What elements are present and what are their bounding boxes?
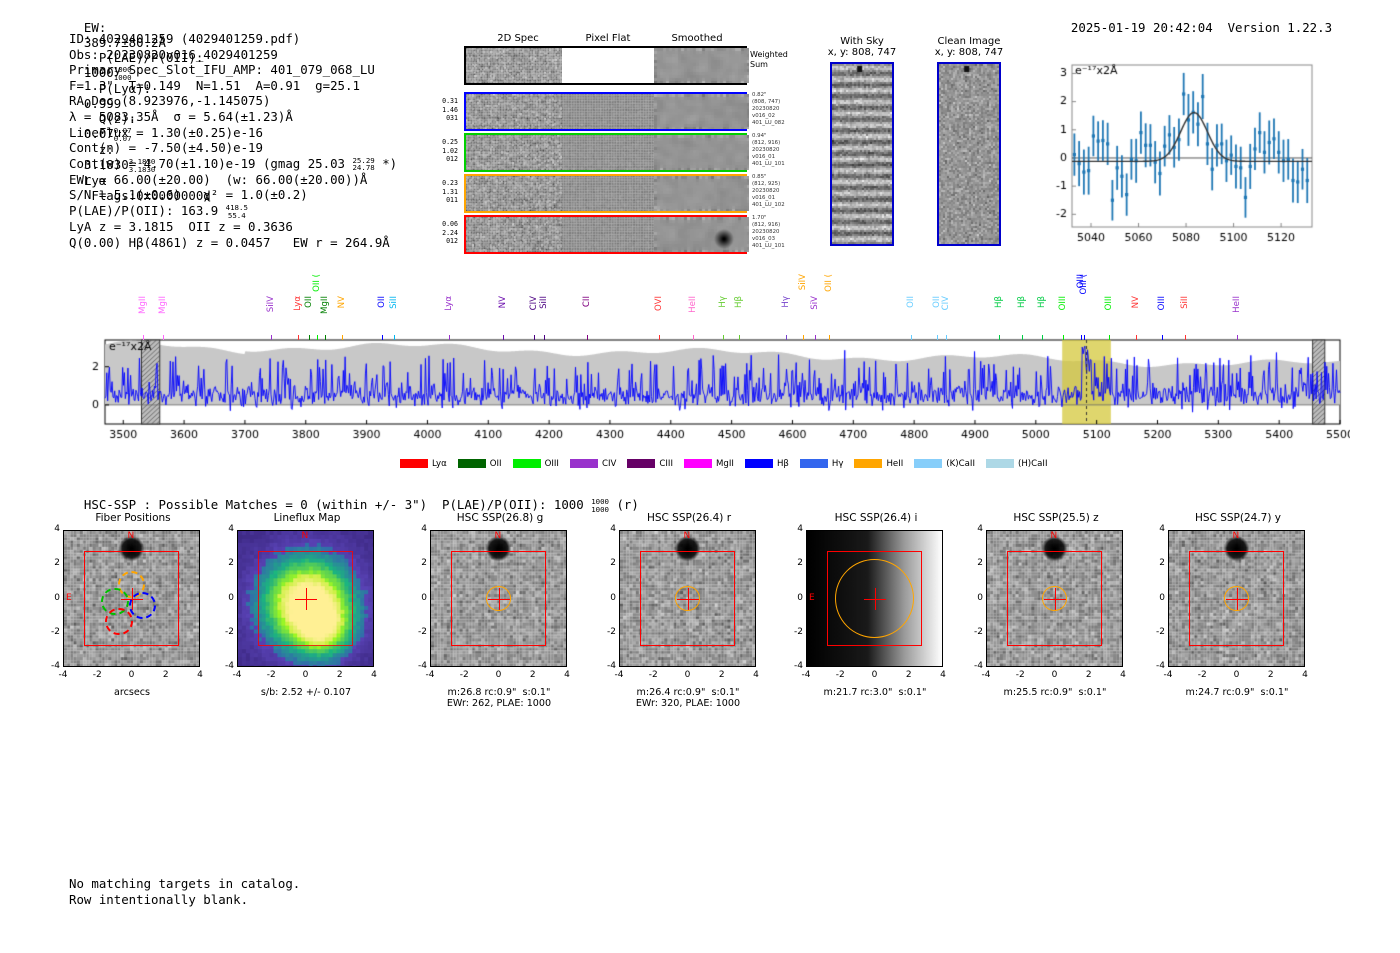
spec2d-fiber-box	[464, 133, 747, 172]
hsc-x-tick: 0	[123, 670, 141, 680]
spectrum-line-tick	[815, 335, 816, 340]
spectrum-line-tick	[1109, 335, 1110, 340]
hsc-x-tick: -4	[54, 670, 72, 680]
legend-item: Hγ	[800, 459, 844, 469]
hsc-crosshair-v	[306, 588, 307, 610]
spec2d-row-right-label: 1.70" (812, 916) 20230820 v016_03 401_LU…	[752, 215, 812, 250]
hsc-header-post: (r)	[609, 497, 639, 512]
spectrum-line-label: Hγ	[781, 296, 791, 308]
hsc-y-tick: 4	[43, 524, 60, 534]
spec2d-fiber-box	[464, 92, 747, 131]
header-timestamp-block: 2025-01-19 20:42:04 Version 1.22.3	[1056, 5, 1332, 35]
legend-swatch	[570, 459, 598, 468]
hsc-cutout-caption-1: m:26.8 rc:0.9" s:0.1"	[424, 687, 574, 698]
legend-swatch	[914, 459, 942, 468]
spectrum-line-label: Lyα	[293, 296, 303, 311]
spec2d-fiber-rows: 0.31 1.46 0310.82" (808, 747) 20230820 v…	[464, 92, 747, 256]
hsc-x-tick: -2	[88, 670, 106, 680]
cutout-with-sky-title: With Sky	[818, 36, 906, 47]
hsc-x-tick: 4	[191, 670, 209, 680]
legend-swatch	[627, 459, 655, 468]
hsc-cutout-caption-1: m:26.4 rc:0.9" s:0.1"	[613, 687, 763, 698]
spec2d-pixelflat	[562, 217, 654, 252]
compass-north-label: N	[495, 531, 502, 541]
spectrum-line-tick	[1162, 335, 1163, 340]
spectrum-line-tick	[394, 335, 395, 340]
cutout-clean-title: Clean Image	[925, 36, 1013, 47]
hsc-y-tick: 2	[599, 558, 616, 568]
legend-item: (K)CaII	[914, 459, 975, 469]
spec2d-smoothed	[654, 135, 749, 170]
spectrum-line-tick	[143, 335, 144, 340]
hsc-cutout-plot: N-4-4-2-2002244	[1168, 530, 1305, 667]
spec2d-title-pixelflat: Pixel Flat	[563, 33, 653, 44]
spec2d-pixelflat	[562, 135, 654, 170]
hsc-header-pre: HSC-SSP : Possible Matches = 0 (within +…	[84, 497, 591, 512]
spectrum-line-tick	[1084, 335, 1085, 340]
hsc-x-tick: 0	[1046, 670, 1064, 680]
info-plae-range: 418.555.4	[226, 204, 248, 219]
hsc-cutout-plot: E-4-4-2-2002244	[806, 530, 943, 667]
hsc-y-tick: 4	[786, 524, 803, 534]
hsc-x-tick: -2	[455, 670, 473, 680]
legend-item: MgII	[684, 459, 734, 469]
hsc-y-tick: 2	[217, 558, 234, 568]
spectrum-line-label: HeII	[1232, 296, 1242, 313]
hsc-x-tick: 2	[331, 670, 349, 680]
hsc-cutout-title: Lineflux Map	[232, 512, 382, 524]
hsc-cutout-panel: Fiber PositionsNE-4-4-2-2002244arcsecs	[63, 512, 223, 698]
spectrum-line-label: CIV	[941, 296, 951, 310]
hsc-y-tick: -2	[966, 627, 983, 637]
spectrum-line-tick	[503, 335, 504, 340]
spectrum-line-tick	[309, 335, 310, 340]
hsc-cutout-caption-2: EWr: 320, PLAE: 1000	[613, 698, 763, 709]
spec2d-smoothed	[654, 176, 749, 211]
hsc-x-tick: 0	[1228, 670, 1246, 680]
hsc-x-tick: -2	[262, 670, 280, 680]
legend-item: OII	[458, 459, 502, 469]
spectrum-line-label: MgII	[158, 296, 168, 314]
legend-label: Hβ	[777, 459, 789, 469]
spectrum-line-tick	[163, 335, 164, 340]
info-line: λ = 5083.35Å σ = 5.64(±1.23)Å	[69, 109, 397, 125]
spectrum-line-label: Hγ	[718, 296, 728, 308]
legend-swatch	[745, 459, 773, 468]
spectrum-legend: LyαOIIOIIICIVCIIIMgIIHβHγHeII(K)CaII(H)C…	[400, 453, 1020, 472]
legend-label: OII	[490, 459, 502, 469]
hsc-cutout-caption-2: EWr: 262, PLAE: 1000	[424, 698, 574, 709]
info-sn: S/N = 5.1(±0.6) χ² = 1.0(±0.2)	[69, 187, 397, 203]
hsc-header-range: 10001000	[591, 498, 609, 513]
compass-north-label: N	[684, 531, 691, 541]
info-line: LineFlux = 1.30(±0.25)e-16	[69, 125, 397, 141]
hsc-x-tick: 0	[679, 670, 697, 680]
spec2d-fiber-box	[464, 215, 747, 254]
compass-north-label: N	[302, 531, 309, 541]
legend-item: Lyα	[400, 459, 447, 469]
hsc-x-tick: -2	[1193, 670, 1211, 680]
spec2d-raw	[466, 135, 562, 170]
hsc-y-tick: 0	[599, 593, 616, 603]
hsc-x-tick: -4	[797, 670, 815, 680]
spectrum-line-label: OII (	[312, 274, 322, 292]
legend-label: Lyα	[432, 459, 447, 469]
spectrum-line-label: SiIV	[266, 296, 276, 312]
spectrum-line-label: OVI	[654, 296, 664, 311]
spec2d-row-left-label: 0.06 2.24 012	[420, 220, 458, 246]
spectrum-line-tick	[317, 335, 318, 340]
legend-swatch	[400, 459, 428, 468]
hsc-x-tick: -4	[421, 670, 439, 680]
legend-label: CIV	[602, 459, 616, 469]
spectrum-line-label: CIV	[529, 296, 539, 310]
spec2d-row-right-label: 0.94" (812, 916) 20230820 v016_01 401_LU…	[752, 133, 812, 168]
hsc-x-tick: -2	[1011, 670, 1029, 680]
hsc-x-tick: 4	[934, 670, 952, 680]
hsc-y-tick: 4	[966, 524, 983, 534]
spectrum-line-label: OIII	[1058, 296, 1068, 310]
spectrum-line-label: OII	[377, 296, 387, 308]
hsc-cutout-panel: HSC SSP(26.4) rN-4-4-2-2002244m:26.4 rc:…	[619, 512, 779, 709]
hsc-x-tick: 2	[157, 670, 175, 680]
hsc-cutout-panel: Lineflux MapN-4-4-2-2002244s/b: 2.52 +/-…	[237, 512, 397, 698]
info-line: ID: 4029401259 (4029401259.pdf)	[69, 31, 397, 47]
hsc-x-tick: 4	[558, 670, 576, 680]
spec2d-row-left-label: 0.31 1.46 031	[420, 97, 458, 123]
hsc-x-tick: 0	[490, 670, 508, 680]
spec2d-smoothed	[654, 217, 749, 252]
hsc-cutout-plot: N-4-4-2-2002244	[430, 530, 567, 667]
spectrum-line-label: SiII	[539, 296, 549, 309]
compass-east-label: E	[809, 593, 815, 603]
spectrum-line-label: Hβ	[734, 296, 744, 308]
spec2d-fiber-row: 0.25 1.02 0120.94" (812, 916) 20230820 v…	[464, 133, 747, 172]
hsc-y-tick: 0	[966, 593, 983, 603]
hsc-x-tick: 2	[1262, 670, 1280, 680]
spec2d-raw	[466, 217, 562, 252]
spectrum-line-label: CII	[582, 296, 592, 307]
header-version: Version 1.22.3	[1228, 20, 1332, 35]
line-profile-chart	[1040, 55, 1320, 274]
hsc-cutout-panel: HSC SSP(25.5) zN-4-4-2-2002244m:25.5 rc:…	[986, 512, 1146, 698]
spectrum-line-label: SiV	[810, 296, 820, 310]
compass-north-label: N	[1233, 531, 1240, 541]
hsc-cutout-plot: N-4-4-2-2002244	[619, 530, 756, 667]
gmag-range: 25.2924.78	[352, 157, 374, 172]
spectrum-line-tick	[723, 335, 724, 340]
hsc-cutout-title: HSC SSP(25.5) z	[981, 512, 1131, 524]
hsc-cutout-caption-1: s/b: 2.52 +/- 0.107	[231, 687, 381, 698]
spectrum-line-tick	[946, 335, 947, 340]
hsc-cutout-panel: HSC SSP(24.7) yN-4-4-2-2002244m:24.7 rc:…	[1168, 512, 1328, 698]
spectrum-line-label: OII	[304, 296, 314, 308]
spectrum-line-label: OIII (	[1079, 274, 1089, 294]
info-line: Cont(n) = -7.50(±4.50)e-19	[69, 140, 397, 156]
hsc-header: HSC-SSP : Possible Matches = 0 (within +…	[69, 482, 639, 513]
hsc-cutout-title: Fiber Positions	[58, 512, 208, 524]
spec2d-row-right-label: 0.82" (808, 747) 20230820 v016_02 401_LU…	[752, 92, 812, 127]
compass-north-label: N	[1051, 531, 1058, 541]
spectrum-line-tick	[911, 335, 912, 340]
cutout-with-sky-coords: x, y: 808, 747	[818, 47, 906, 58]
spectrum-line-tick	[298, 335, 299, 340]
hsc-cutout-caption-1: m:21.7 rc:3.0" s:0.1"	[800, 687, 950, 698]
legend-label: Hγ	[832, 459, 844, 469]
hsc-x-tick: -2	[644, 670, 662, 680]
hsc-y-tick: -2	[217, 627, 234, 637]
hsc-x-tick: 4	[365, 670, 383, 680]
spectrum-line-label: SiII	[389, 296, 399, 309]
hsc-radius-circle	[486, 586, 511, 611]
legend-label: HeII	[886, 459, 903, 469]
hsc-radius-circle	[835, 559, 914, 638]
compass-east-label: E	[66, 593, 72, 603]
hsc-x-tick: 0	[866, 670, 884, 680]
spectrum-line-tick	[271, 335, 272, 340]
hsc-cutout-title: HSC SSP(26.4) r	[614, 512, 764, 524]
hsc-cutout-caption-1: arcsecs	[57, 687, 207, 698]
spectrum-line-label: SiIV	[798, 274, 808, 290]
hsc-x-tick: 4	[747, 670, 765, 680]
spectrum-line-tick	[1063, 335, 1064, 340]
cutout-clean-coords: x, y: 808, 747	[925, 47, 1013, 58]
hsc-x-tick: 2	[900, 670, 918, 680]
hsc-y-tick: 0	[217, 593, 234, 603]
spectrum-line-tick	[544, 335, 545, 340]
hsc-radius-circle	[1042, 586, 1067, 611]
spectrum-line-tick	[786, 335, 787, 340]
hsc-x-tick: -4	[1159, 670, 1177, 680]
hsc-y-tick: -2	[410, 627, 427, 637]
hsc-x-tick: -2	[831, 670, 849, 680]
info-ewr: EWr = 66.00(±20.00) (w: 66.00(±20.00))Å	[69, 172, 397, 188]
legend-swatch	[513, 459, 541, 468]
spectrum-line-tick	[937, 335, 938, 340]
hsc-cutout-plot: N-4-4-2-2002244	[237, 530, 374, 667]
spectrum-line-labels: MgIIMgIISiIVLyαOIIOII (MgIINVOIISiIILyαN…	[60, 272, 1350, 352]
spectrum-line-label: Hβ	[994, 296, 1004, 308]
spectrum-line-tick	[1022, 335, 1023, 340]
cutout-clean-image	[937, 62, 1001, 246]
hsc-x-tick: -4	[610, 670, 628, 680]
legend-label: MgII	[716, 459, 734, 469]
spec2d-row-right-label: 0.85" (812, 925) 20230820 v016_01 401_LU…	[752, 174, 812, 209]
spectrum-line-tick	[829, 335, 830, 340]
hsc-cutout-plot: N-4-4-2-2002244	[986, 530, 1123, 667]
hsc-cutout-plot: NE-4-4-2-2002244	[63, 530, 200, 667]
info-q-line: Q(0.00) Hβ(4861) z = 0.0457 EW r = 264.9…	[69, 235, 397, 251]
info-plae: P(LAE)/P(OII): 163.9 418.555.4	[69, 203, 397, 219]
compass-north-label: N	[128, 531, 135, 541]
info-line: Obs: 20230820v016_4029401259	[69, 47, 397, 63]
footer-block: No matching targets in catalog. Row inte…	[69, 876, 300, 907]
hsc-y-tick: 4	[599, 524, 616, 534]
full-spectrum-chart: MgIIMgIISiIVLyαOIIOII (MgIINVOIISiIILyαN…	[60, 272, 1350, 456]
hsc-y-tick: 2	[786, 558, 803, 568]
spec2d-row-left-label: 0.25 1.02 012	[420, 138, 458, 164]
spectrum-line-label: NV	[498, 296, 508, 308]
spectrum-line-tick	[1081, 335, 1082, 340]
legend-swatch	[986, 459, 1014, 468]
hsc-cutout-panel: HSC SSP(26.8) gN-4-4-2-2002244m:26.8 rc:…	[430, 512, 590, 709]
spec2d-title-2dspec: 2D Spec	[473, 33, 563, 44]
hsc-y-tick: -2	[1148, 627, 1165, 637]
legend-item: OIII	[513, 459, 559, 469]
cutout-clean-image: Clean Image x, y: 808, 747	[925, 36, 1013, 246]
spec2d-fiber-box	[464, 174, 747, 213]
hsc-y-tick: 2	[966, 558, 983, 568]
hsc-y-tick: 2	[1148, 558, 1165, 568]
legend-swatch	[854, 459, 882, 468]
spectrum-line-tick	[739, 335, 740, 340]
spectrum-line-label: HeII	[688, 296, 698, 313]
spectrum-line-label: MgII	[138, 296, 148, 314]
fiber-circle	[129, 592, 156, 619]
hsc-cutout-title: HSC SSP(26.8) g	[425, 512, 575, 524]
footer-line-2: Row intentionally blank.	[69, 892, 300, 908]
spectrum-line-tick	[1185, 335, 1186, 340]
spectrum-line-tick	[449, 335, 450, 340]
spec2d-row-left-label: 0.23 1.31 011	[420, 179, 458, 205]
object-info-block: ID: 4029401259 (4029401259.pdf) Obs: 202…	[69, 31, 397, 250]
spec2d-pixelflat	[562, 176, 654, 211]
spectrum-line-tick	[999, 335, 1000, 340]
hsc-radius-circle	[675, 586, 700, 611]
info-redshifts: LyA z = 3.1815 OII z = 0.3636	[69, 219, 397, 235]
hsc-radius-circle	[1224, 586, 1249, 611]
cutout-with-sky: With Sky x, y: 808, 747	[818, 36, 906, 246]
cutout-with-sky-image	[830, 62, 894, 246]
spectrum-line-tick	[659, 335, 660, 340]
info-line: RA,Dec (8.923976,-1.145075)	[69, 93, 397, 109]
hsc-y-tick: -2	[43, 627, 60, 637]
spectrum-line-label: MgII	[320, 296, 330, 314]
spectrum-line-tick	[1042, 335, 1043, 340]
legend-item: HeII	[854, 459, 903, 469]
spectrum-line-label: SiII	[1180, 296, 1190, 309]
spectrum-line-label: Hβ	[1017, 296, 1027, 308]
info-line: F=1.3" T=0.149 N=1.51 A=0.91 g=25.1	[69, 78, 397, 94]
legend-swatch	[684, 459, 712, 468]
hsc-y-tick: 4	[217, 524, 234, 534]
spec2d-raw	[466, 94, 562, 129]
spectrum-line-tick	[382, 335, 383, 340]
info-line: Primary Spec_Slot_IFU_AMP: 401_079_068_L…	[69, 62, 397, 78]
spectrum-line-tick	[803, 335, 804, 340]
hsc-x-tick: 4	[1114, 670, 1132, 680]
spec2d-weighted-sum-row	[464, 46, 747, 85]
hsc-cutout-caption-1: m:25.5 rc:0.9" s:0.1"	[980, 687, 1130, 698]
spectrum-line-tick	[325, 335, 326, 340]
spec2d-fiber-row: 0.06 2.24 0121.70" (812, 916) 20230820 v…	[464, 215, 747, 254]
spec2d-title-smoothed: Smoothed	[652, 33, 742, 44]
legend-label: (H)CaII	[1018, 459, 1048, 469]
hsc-x-tick: -4	[228, 670, 246, 680]
spectrum-line-label: OIII	[1157, 296, 1167, 310]
spectrum-line-tick	[693, 335, 694, 340]
legend-item: Hβ	[745, 459, 789, 469]
spec2d-fiber-row: 0.23 1.31 0110.85" (812, 925) 20230820 v…	[464, 174, 747, 213]
hsc-x-tick: -4	[977, 670, 995, 680]
spectrum-line-label: OII (	[824, 274, 834, 292]
spectrum-line-tick	[587, 335, 588, 340]
spectrum-line-tick	[1237, 335, 1238, 340]
hsc-cutout-title: HSC SSP(26.4) i	[801, 512, 951, 524]
hsc-y-tick: 0	[1148, 593, 1165, 603]
legend-label: CIII	[659, 459, 673, 469]
legend-label: (K)CaII	[946, 459, 975, 469]
hsc-cutout-title: HSC SSP(24.7) y	[1163, 512, 1313, 524]
hsc-y-tick: 2	[43, 558, 60, 568]
hsc-y-tick: -2	[599, 627, 616, 637]
spectrum-line-tick	[534, 335, 535, 340]
spectrum-line-tick	[1136, 335, 1137, 340]
spectrum-line-label: NV	[1131, 296, 1141, 308]
spec2d-smoothed	[654, 94, 749, 129]
hsc-cutout-panel: HSC SSP(26.4) iE-4-4-2-2002244m:21.7 rc:…	[806, 512, 966, 698]
hsc-x-tick: 2	[524, 670, 542, 680]
hsc-x-tick: 2	[1080, 670, 1098, 680]
legend-label: OIII	[545, 459, 559, 469]
hsc-y-tick: 4	[410, 524, 427, 534]
info-cont-w: Cont(w) = 4.70(±1.10)e-19 (gmag 25.03 25…	[69, 156, 397, 172]
legend-item: (H)CaII	[986, 459, 1048, 469]
hsc-x-tick: 2	[713, 670, 731, 680]
spectrum-line-label: Hβ	[1037, 296, 1047, 308]
hsc-y-tick: -2	[786, 627, 803, 637]
hsc-y-tick: 0	[410, 593, 427, 603]
legend-swatch	[458, 459, 486, 468]
spec2d-raw	[466, 176, 562, 211]
spec2d-fiber-row: 0.31 1.46 0310.82" (808, 747) 20230820 v…	[464, 92, 747, 131]
spectrum-line-label: Lyα	[444, 296, 454, 311]
hsc-y-tick: 4	[1148, 524, 1165, 534]
spectrum-line-label: NV	[337, 296, 347, 308]
legend-item: CIV	[570, 459, 616, 469]
spec2d-weighted-sum-label: Weighted Sum	[750, 50, 788, 70]
spectrum-line-tick	[342, 335, 343, 340]
hsc-x-tick: 0	[297, 670, 315, 680]
hsc-y-tick: 0	[786, 593, 803, 603]
legend-swatch	[800, 459, 828, 468]
spectrum-line-label: OII	[906, 296, 916, 308]
hsc-cutout-caption-1: m:24.7 rc:0.9" s:0.1"	[1162, 687, 1312, 698]
spectrum-line-label: OIII	[1104, 296, 1114, 310]
spec2d-pixelflat	[562, 94, 654, 129]
hsc-x-tick: 4	[1296, 670, 1314, 680]
legend-item: CIII	[627, 459, 673, 469]
hsc-y-tick: 0	[43, 593, 60, 603]
header-timestamp: 2025-01-19 20:42:04	[1071, 20, 1213, 35]
footer-line-1: No matching targets in catalog.	[69, 876, 300, 892]
hsc-y-tick: 2	[410, 558, 427, 568]
